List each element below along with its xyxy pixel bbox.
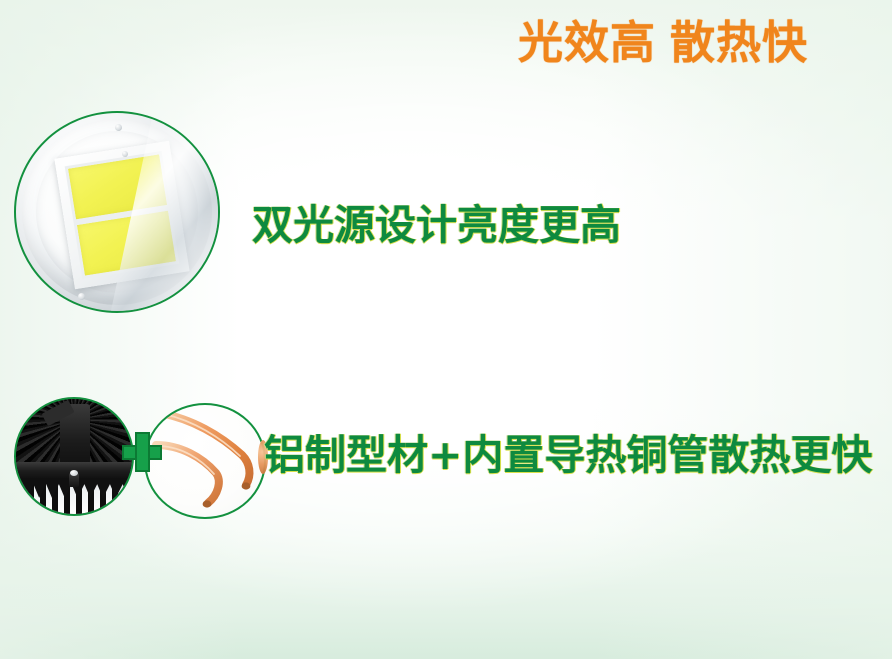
module-screw — [122, 151, 128, 157]
plus-icon-vertical-bar — [135, 432, 150, 472]
feature-caption-aluminium-heatpipe: 铝制型材+内置导热铜管散热更快 — [264, 431, 872, 479]
headline-part-1: 光效高 — [518, 16, 656, 69]
product-feature-banner: 光效高散热快 双光源设计亮度更高 — [0, 0, 892, 659]
background-right-wash — [592, 0, 892, 659]
headline-part-2: 散热快 — [670, 16, 808, 69]
copper-pipes-drawing — [146, 405, 266, 519]
heatsink-bolt — [69, 473, 79, 487]
aluminium-heatsink-photo — [14, 397, 134, 516]
copper-heatpipe-photo — [144, 403, 266, 519]
background-left-wash — [0, 0, 240, 659]
module-screw — [115, 124, 122, 131]
banner-headline: 光效高散热快 — [518, 14, 808, 72]
module-screw — [78, 293, 85, 300]
plus-icon — [122, 432, 162, 472]
led-cob-module-photo — [14, 111, 220, 313]
feature-caption-dual-light-source: 双光源设计亮度更高 — [252, 201, 621, 249]
